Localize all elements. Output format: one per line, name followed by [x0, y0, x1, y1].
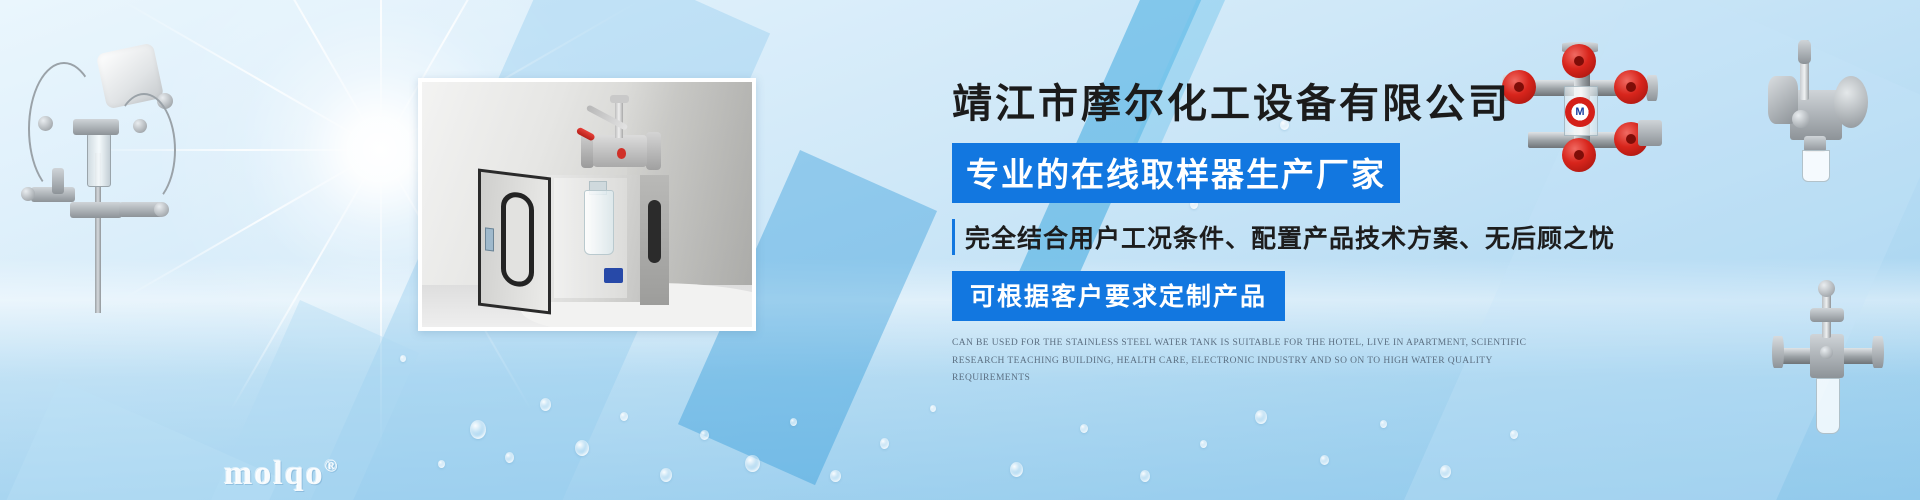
left-equipment-render [10, 25, 185, 310]
promo-banner: M 靖江市摩尔化工设备有限公司 专业的在线取样器生产厂家 完全结合用户工况条件、… [0, 0, 1920, 500]
cabinet-door-lock [485, 227, 494, 251]
marketing-text-block: 靖江市摩尔化工设备有限公司 专业的在线取样器生产厂家 完全结合用户工况条件、配置… [952, 82, 1712, 388]
blue-bottle-cap [604, 268, 624, 283]
outlet-cup [1802, 150, 1830, 182]
drain-tube [1816, 378, 1840, 434]
water-droplet [880, 438, 889, 449]
water-droplet [1380, 420, 1387, 428]
water-droplet [470, 420, 486, 439]
registered-mark-icon: ® [325, 457, 340, 476]
custom-product-badge: 可根据客户要求定制产品 [952, 271, 1285, 321]
right-equipment-lever-valve [1748, 28, 1888, 193]
water-droplet [660, 468, 672, 482]
center-product-photo [418, 78, 756, 331]
sampling-valve-assembly [577, 97, 663, 180]
water-droplet [505, 452, 514, 463]
company-name: 靖江市摩尔化工设备有限公司 [952, 82, 1712, 126]
side-port-hub [1792, 110, 1810, 128]
water-droplet [1080, 424, 1088, 433]
body-badge [1820, 346, 1833, 359]
handwheel-top [1562, 44, 1596, 78]
water-droplet [1140, 470, 1150, 482]
sample-bottle [584, 190, 614, 256]
valve-block-lower [70, 202, 122, 218]
water-droplet [575, 440, 589, 456]
capillary-tube-right [112, 93, 176, 207]
water-droplet [438, 460, 445, 468]
valve-brand-badge [617, 148, 626, 159]
cabinet-door-window [501, 190, 534, 289]
water-droplet [1440, 465, 1451, 478]
lever-knurled-grip [1798, 40, 1811, 64]
cabinet-side-handle [648, 200, 661, 264]
water-droplet [1510, 430, 1518, 439]
flange-right-side [1834, 76, 1868, 128]
water-droplet [1010, 462, 1023, 477]
sub-headline: 完全结合用户工况条件、配置产品技术方案、无后顾之忧 [952, 219, 1712, 255]
water-droplet [1320, 455, 1329, 465]
packing-nut [1810, 308, 1844, 322]
flange-hub [154, 202, 169, 217]
water-droplet [745, 455, 760, 472]
water-droplet [540, 398, 551, 411]
flange-left-end [1772, 336, 1784, 368]
water-droplet [930, 405, 936, 412]
water-droplet [400, 355, 406, 362]
tagline-badge: 专业的在线取样器生产厂家 [952, 143, 1400, 203]
water-droplet [620, 412, 628, 421]
relief-valve [52, 168, 64, 194]
flange-hub [21, 187, 35, 201]
water-droplet [830, 470, 841, 482]
english-description: CAN BE USED FOR THE STAINLESS STEEL WATE… [952, 335, 1562, 388]
stem-ball-knob [1818, 280, 1835, 297]
water-droplet [1200, 440, 1207, 448]
valve-flange-right [646, 132, 661, 170]
water-droplet [700, 430, 709, 440]
watermark-text: molqo [224, 455, 325, 492]
right-equipment-needle-valve [1768, 278, 1888, 458]
water-droplet [1255, 410, 1267, 424]
flange-right-end [1872, 336, 1884, 368]
water-droplet [790, 418, 797, 426]
cabinet-door [478, 168, 551, 314]
brand-watermark: molqo® [224, 455, 339, 493]
valve-bonnet [610, 95, 629, 103]
